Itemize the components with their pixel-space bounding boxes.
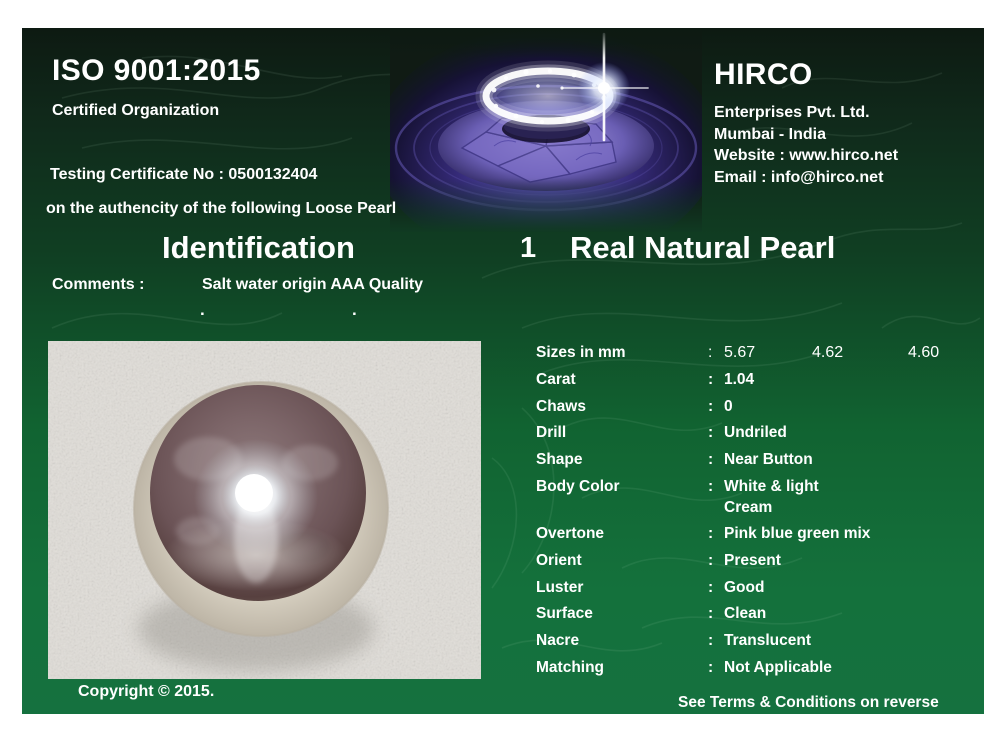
spec-value: Not Applicable	[724, 659, 832, 677]
specification-table: Sizes in mm : 5.67 4.62 4.60 Carat : 1.0…	[536, 344, 966, 686]
spec-separator: :	[708, 579, 713, 597]
certificate-number-line: Testing Certificate No : 0500132404	[50, 166, 317, 184]
spec-label: Nacre	[536, 632, 706, 650]
spec-value: White & light	[724, 478, 819, 496]
spec-row-matching: Matching : Not Applicable	[536, 659, 966, 686]
spec-row-sizes: Sizes in mm : 5.67 4.62 4.60	[536, 344, 966, 371]
spec-separator: :	[708, 398, 713, 416]
dot-marker-1: .	[200, 300, 205, 320]
identification-heading: Identification	[162, 230, 355, 266]
copyright-text: Copyright © 2015.	[78, 683, 214, 701]
spec-value: Near Button	[724, 451, 813, 469]
certificate-card: ISO 9001:2015 Certified Organization Tes…	[22, 28, 984, 714]
spec-value: Present	[724, 552, 781, 570]
spec-row-overtone: Overtone : Pink blue green mix	[536, 525, 966, 552]
spec-value-size-1: 5.67	[724, 344, 755, 362]
authenticity-line: on the authencity of the following Loose…	[46, 200, 396, 218]
spec-row-carat: Carat : 1.04	[536, 371, 966, 398]
company-location: Mumbai - India	[714, 124, 898, 146]
dot-marker-2: .	[352, 300, 357, 320]
spec-value: 0	[724, 398, 733, 416]
spec-separator: :	[708, 605, 713, 623]
company-legal-line: Enterprises Pvt. Ltd.	[714, 102, 898, 124]
spec-label: Body Color	[536, 478, 706, 496]
spec-value-size-3: 4.60	[908, 344, 939, 362]
spec-separator: :	[708, 371, 713, 389]
comments-label: Comments :	[52, 276, 144, 294]
spec-label: Luster	[536, 579, 706, 597]
spec-label: Overtone	[536, 525, 706, 543]
spec-label: Drill	[536, 424, 706, 442]
logo-artwork	[390, 28, 702, 232]
spec-separator: :	[708, 525, 713, 543]
spec-row-shape: Shape : Near Button	[536, 451, 966, 478]
spec-row-body-color: Body Color : White & light Cream	[536, 478, 966, 525]
spec-row-nacre: Nacre : Translucent	[536, 632, 966, 659]
spec-separator: :	[708, 478, 713, 496]
company-website[interactable]: Website : www.hirco.net	[714, 145, 898, 167]
spec-label: Sizes in mm	[536, 344, 706, 362]
spec-label: Shape	[536, 451, 706, 469]
spec-separator: :	[708, 424, 713, 442]
spec-separator: :	[708, 632, 713, 650]
spec-value: Good	[724, 579, 764, 597]
terms-note: See Terms & Conditions on reverse	[678, 694, 939, 712]
company-email[interactable]: Email : info@hirco.net	[714, 167, 898, 189]
spec-value: 1.04	[724, 371, 754, 389]
item-number: 1	[520, 232, 536, 265]
comments-value: Salt water origin AAA Quality	[202, 276, 423, 294]
spec-label: Surface	[536, 605, 706, 623]
spec-separator: :	[708, 659, 713, 677]
spec-row-luster: Luster : Good	[536, 579, 966, 606]
spec-value: Translucent	[724, 632, 811, 650]
spec-separator: :	[708, 344, 712, 362]
spec-row-orient: Orient : Present	[536, 552, 966, 579]
item-name: Real Natural Pearl	[570, 230, 835, 266]
pearl-photo	[48, 341, 481, 679]
iso-subtitle: Certified Organization	[52, 102, 219, 120]
spec-value-size-2: 4.62	[812, 344, 843, 362]
company-name: HIRCO	[714, 58, 813, 92]
spec-separator: :	[708, 552, 713, 570]
spec-label: Carat	[536, 371, 706, 389]
spec-value: Clean	[724, 605, 766, 623]
spec-value: Undriled	[724, 424, 787, 442]
spec-value-continued: Cream	[724, 499, 772, 517]
company-contact-block: Enterprises Pvt. Ltd. Mumbai - India Web…	[714, 102, 898, 188]
spec-row-surface: Surface : Clean	[536, 605, 966, 632]
spec-value: Pink blue green mix	[724, 525, 870, 543]
iso-title: ISO 9001:2015	[52, 54, 261, 88]
spec-row-chaws: Chaws : 0	[536, 398, 966, 425]
spec-label: Orient	[536, 552, 706, 570]
spec-label: Matching	[536, 659, 706, 677]
spec-label: Chaws	[536, 398, 706, 416]
spec-row-drill: Drill : Undriled	[536, 424, 966, 451]
spec-separator: :	[708, 451, 713, 469]
